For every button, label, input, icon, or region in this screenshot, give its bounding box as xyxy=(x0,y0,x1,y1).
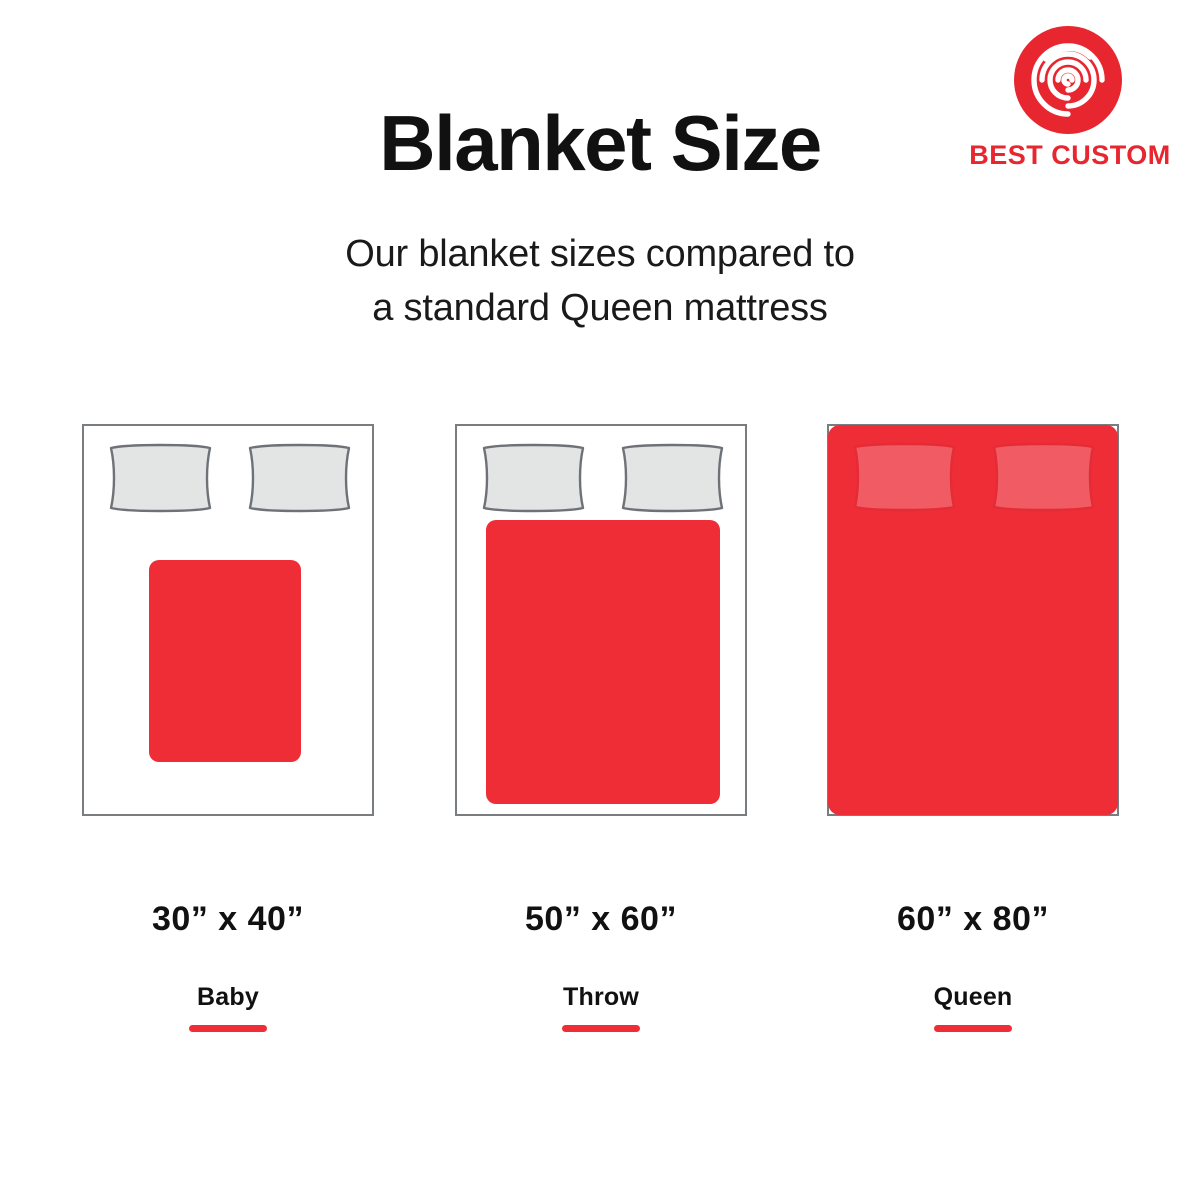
size-caption-throw: 50” x 60” Throw xyxy=(455,900,747,1032)
size-caption-queen: 60” x 80” Queen xyxy=(827,900,1119,1032)
accent-rule xyxy=(934,1025,1012,1032)
blanket-overlay-throw xyxy=(486,520,720,804)
pillow-icon xyxy=(481,442,586,514)
pillow-icon xyxy=(852,441,957,513)
accent-rule xyxy=(189,1025,267,1032)
size-dimensions: 30” x 40” xyxy=(82,900,374,939)
pillow-icon xyxy=(620,442,725,514)
blanket-overlay-queen xyxy=(828,425,1118,815)
subtitle-line-2: a standard Queen mattress xyxy=(0,282,1200,336)
mattress-diagram-queen xyxy=(827,424,1119,816)
accent-rule xyxy=(562,1025,640,1032)
subtitle-line-1: Our blanket sizes compared to xyxy=(0,228,1200,282)
page-subtitle: Our blanket sizes compared to a standard… xyxy=(0,228,1200,336)
blanket-overlay-baby xyxy=(149,560,301,762)
size-name: Queen xyxy=(827,983,1119,1012)
size-name: Baby xyxy=(82,983,374,1012)
size-dimensions: 50” x 60” xyxy=(455,900,747,939)
size-dimensions: 60” x 80” xyxy=(827,900,1119,939)
infographic-canvas: BEST CUSTOM Blanket Size Our blanket siz… xyxy=(0,0,1200,1200)
page-title: Blanket Size xyxy=(0,104,1200,182)
size-caption-baby: 30” x 40” Baby xyxy=(82,900,374,1032)
pillow-icon xyxy=(247,442,352,514)
mattress-diagram-throw xyxy=(455,424,747,816)
pillow-icon xyxy=(991,441,1096,513)
mattress-diagram-baby xyxy=(82,424,374,816)
size-name: Throw xyxy=(455,983,747,1012)
pillow-icon xyxy=(108,442,213,514)
